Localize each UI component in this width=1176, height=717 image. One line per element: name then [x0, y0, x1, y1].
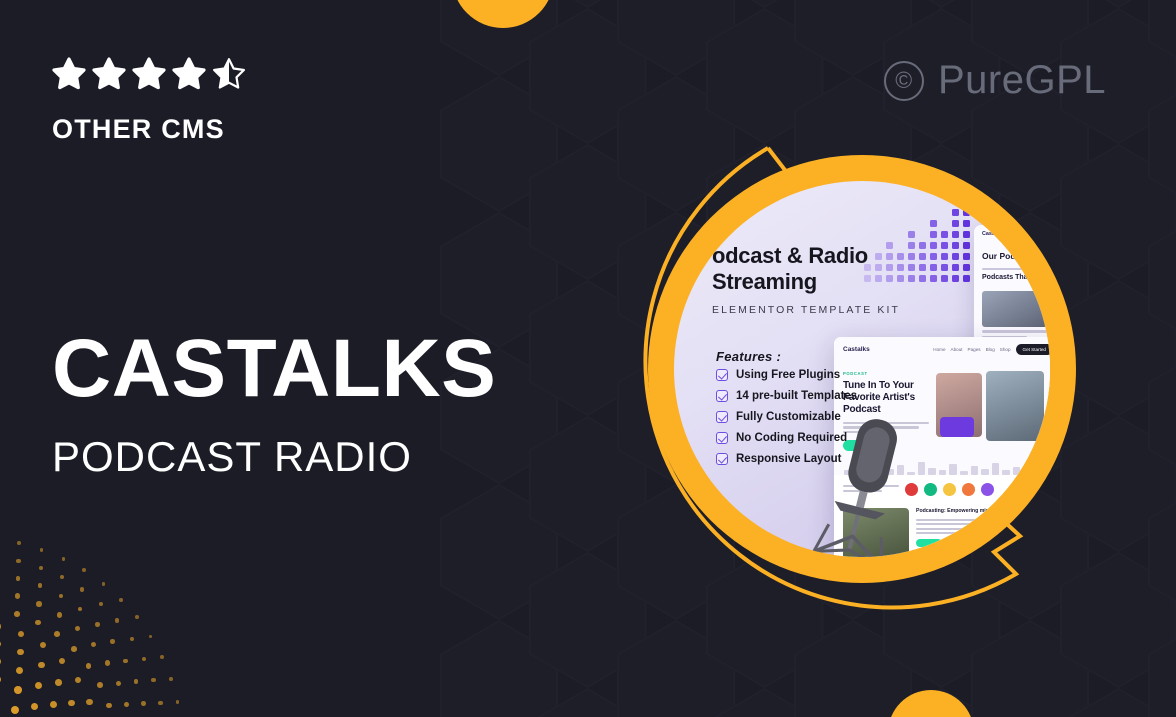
hexagon-tile	[794, 620, 912, 717]
nav-item: Home	[933, 347, 945, 352]
dot	[17, 541, 21, 545]
hexagon-tile	[440, 484, 558, 620]
dot	[16, 576, 21, 581]
equalizer-dot	[952, 209, 959, 216]
orange-circle-top	[452, 0, 554, 28]
dot	[124, 702, 129, 707]
back-logo: Castalks	[982, 231, 1004, 237]
dot	[18, 631, 24, 637]
dot	[36, 601, 41, 606]
dot	[0, 658, 1, 665]
dot	[82, 568, 86, 572]
check-icon	[716, 453, 728, 465]
orange-circle-bottom	[888, 690, 974, 717]
wave-bar	[992, 463, 1000, 475]
dot	[86, 699, 92, 705]
product-screenshot: Castalks Our Podcast Podcasts That Make …	[674, 181, 1050, 557]
feature-label: Using Free Plugins	[736, 369, 840, 381]
wave-bar	[939, 470, 947, 475]
hexagon-tile	[617, 620, 735, 717]
dot	[35, 682, 42, 689]
front-nav: Castalks Home About Pages Blog Shop Get …	[834, 337, 1050, 361]
back-nav: Castalks	[974, 225, 1050, 243]
dot	[80, 587, 84, 591]
headline-line-1: odcast & Radio	[712, 243, 922, 269]
page-title: CASTALKS	[52, 330, 672, 409]
hexagon-tile	[706, 0, 824, 8]
dot	[130, 637, 134, 641]
category-label: OTHER CMS	[52, 114, 572, 145]
preview-headline: odcast & Radio Streaming ELEMENTOR TEMPL…	[712, 243, 922, 316]
dot	[39, 566, 43, 570]
equalizer-dot	[952, 231, 959, 238]
hexagon-tile	[529, 688, 647, 717]
dot	[160, 655, 164, 659]
equalizer-dot	[952, 253, 959, 260]
nav-item: Pages	[968, 347, 981, 352]
equalizer-dot	[963, 275, 970, 282]
wave-bar	[981, 469, 989, 475]
nav-item: Shop	[1000, 347, 1011, 352]
dot	[17, 649, 24, 656]
features-label: Features :	[716, 349, 781, 364]
dot	[105, 660, 110, 665]
dot	[141, 701, 146, 706]
platform-icon	[981, 483, 994, 496]
dot	[55, 679, 62, 686]
hexagon-tile	[1148, 348, 1176, 484]
page-subtitle: PODCAST RADIO	[52, 433, 672, 481]
dot	[60, 575, 64, 579]
dot	[50, 701, 57, 708]
dot	[75, 677, 81, 683]
wave-bar	[971, 466, 979, 475]
dot	[59, 658, 65, 664]
back-heading: Our Podcast	[974, 243, 1050, 265]
hexagon-tile	[1060, 0, 1176, 8]
equalizer-dot	[941, 275, 948, 282]
dot	[35, 620, 41, 626]
feature-item: Using Free Plugins	[716, 369, 857, 381]
dot	[15, 593, 20, 598]
microphone-icon	[810, 413, 930, 557]
copyright-icon: ©	[884, 61, 924, 101]
dot	[86, 663, 92, 669]
hexagon-tile	[1148, 0, 1176, 76]
dot	[16, 559, 20, 563]
dot	[62, 557, 66, 561]
equalizer-dot	[930, 264, 937, 271]
dot	[54, 631, 60, 637]
equalizer-dot	[941, 253, 948, 260]
dot	[91, 642, 96, 647]
hexagon-tile	[1148, 212, 1176, 348]
dot	[102, 582, 106, 586]
equalizer-dot	[930, 242, 937, 249]
dot	[11, 706, 19, 714]
platform-icon	[943, 483, 956, 496]
dot	[16, 667, 23, 674]
star-icon	[52, 57, 86, 91]
dot	[0, 641, 1, 648]
dot	[95, 622, 100, 627]
check-icon	[716, 432, 728, 444]
equalizer-dot	[963, 231, 970, 238]
dot	[135, 615, 139, 619]
equalizer-dot	[952, 275, 959, 282]
dot	[31, 703, 39, 711]
watermark: © PureGPL	[884, 58, 1106, 103]
feature-label: 14 pre-built Templates	[736, 390, 857, 402]
product-preview-badge: Castalks Our Podcast Podcasts That Make …	[648, 155, 1076, 583]
dot	[59, 594, 64, 599]
check-icon	[716, 411, 728, 423]
dot	[106, 703, 112, 709]
hexagon-tile	[1148, 484, 1176, 620]
hero-images	[936, 371, 1050, 443]
dot	[110, 639, 115, 644]
dot	[158, 701, 162, 705]
dot	[40, 642, 46, 648]
platform-icon	[962, 483, 975, 496]
wave-bar	[949, 464, 957, 475]
hexagon-tile	[440, 620, 558, 717]
dot	[99, 602, 103, 606]
equalizer-dot	[930, 231, 937, 238]
dot	[97, 682, 103, 688]
equalizer-dot	[941, 264, 948, 271]
equalizer-dot	[963, 220, 970, 227]
radial-dot-pattern	[0, 527, 190, 717]
hexagon-tile	[1148, 620, 1176, 717]
hexagon-tile	[706, 688, 824, 717]
star-icon	[92, 57, 126, 91]
dot	[40, 548, 44, 552]
dot	[78, 607, 83, 612]
dot	[14, 611, 20, 617]
watermark-text: PureGPL	[938, 58, 1106, 103]
equalizer-dot	[930, 275, 937, 282]
dot	[116, 681, 121, 686]
equalizer-dot	[952, 264, 959, 271]
left-info-column: OTHER CMS	[52, 52, 572, 145]
star-icon	[132, 57, 166, 91]
hexagon-tile	[1148, 76, 1176, 212]
dot	[142, 657, 146, 661]
equalizer-dot	[963, 209, 970, 216]
dot	[169, 677, 173, 681]
promo-banner: OTHER CMS CASTALKS PODCAST RADIO © PureG…	[0, 0, 1176, 717]
star-icon	[172, 57, 206, 91]
wave-bar	[1044, 469, 1050, 475]
dot	[71, 646, 77, 652]
equalizer-dot	[908, 231, 915, 238]
equalizer-dot	[941, 242, 948, 249]
dot	[0, 676, 1, 684]
dot	[176, 700, 180, 704]
star-half-icon	[212, 57, 246, 91]
nav-item: About	[951, 347, 963, 352]
check-icon	[716, 369, 728, 381]
dot	[38, 583, 43, 588]
dot	[38, 662, 45, 669]
hexagon-tile	[1060, 688, 1176, 717]
equalizer-dot	[952, 242, 959, 249]
hexagon-tile	[971, 620, 1089, 717]
article-heading: Podcasting: Empowering minds, bridging c…	[916, 508, 1050, 515]
hexagon-tile	[617, 0, 735, 76]
wave-bar	[1013, 467, 1021, 475]
wave-bar	[960, 471, 968, 475]
dot	[149, 635, 153, 639]
dot	[57, 612, 62, 617]
dot	[14, 686, 22, 694]
star-rating	[52, 52, 572, 96]
dot	[119, 598, 123, 602]
dot	[151, 678, 155, 682]
equalizer-dot	[963, 242, 970, 249]
headline-line-2: Streaming	[712, 269, 922, 295]
dot	[68, 700, 75, 707]
front-logo: Castalks	[843, 346, 870, 353]
equalizer-dot	[952, 220, 959, 227]
hexagon-tile	[883, 0, 1001, 8]
equalizer-dot	[963, 264, 970, 271]
wave-bar	[1034, 465, 1042, 475]
dot	[115, 618, 119, 622]
dot	[134, 679, 139, 684]
back-section-heading: Podcasts That Make You Feel Better	[974, 270, 1050, 285]
dot	[75, 626, 80, 631]
dot	[0, 623, 1, 629]
dot	[123, 659, 128, 664]
nav-item: Blog	[986, 347, 995, 352]
kit-label: ELEMENTOR TEMPLATE KIT	[712, 304, 922, 316]
wave-bar	[1002, 470, 1010, 475]
check-icon	[716, 390, 728, 402]
equalizer-dot	[930, 253, 937, 260]
equalizer-dot	[930, 220, 937, 227]
wave-bar	[1023, 472, 1031, 475]
equalizer-dot	[941, 231, 948, 238]
equalizer-dot	[963, 253, 970, 260]
hero-badge	[940, 417, 974, 437]
feature-item: 14 pre-built Templates	[716, 390, 857, 402]
front-cta-button: Get Started	[1016, 344, 1051, 355]
title-block: CASTALKS PODCAST RADIO	[52, 330, 672, 481]
